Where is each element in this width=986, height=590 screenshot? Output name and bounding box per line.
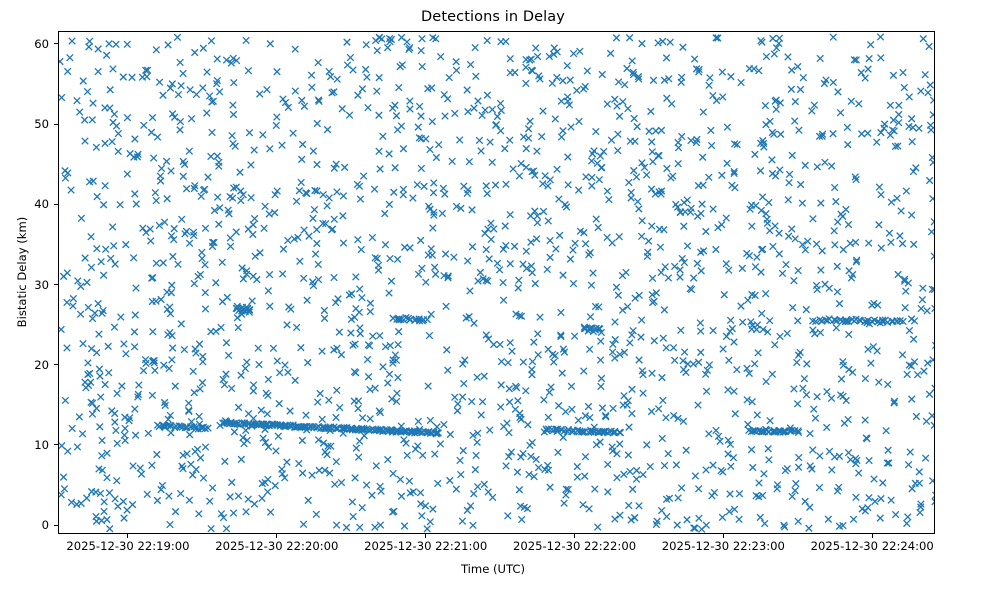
y-tick-mark: [54, 525, 58, 526]
y-tick-mark: [54, 364, 58, 365]
plot-area: [58, 31, 935, 534]
x-tick-mark: [723, 534, 724, 538]
matplotlib-figure: Detections in Delay 2025-12-30 22:19:002…: [0, 0, 986, 590]
y-tick-label: 0: [0, 518, 49, 532]
y-tick-label: 50: [0, 117, 49, 131]
chart-title: Detections in Delay: [0, 9, 986, 25]
x-tick-label: 2025-12-30 22:21:00: [364, 539, 487, 553]
scatter-series-detections: [59, 32, 935, 534]
x-tick-label: 2025-12-30 22:20:00: [215, 539, 338, 553]
y-tick-label: 60: [0, 37, 49, 51]
x-tick-mark: [574, 534, 575, 538]
y-tick-mark: [54, 444, 58, 445]
y-tick-label: 10: [0, 438, 49, 452]
y-tick-mark: [54, 124, 58, 125]
x-tick-mark: [276, 534, 277, 538]
x-tick-label: 2025-12-30 22:24:00: [811, 539, 934, 553]
x-tick-mark: [425, 534, 426, 538]
y-tick-mark: [54, 284, 58, 285]
y-axis-label: Bistatic Delay (km): [15, 162, 29, 382]
x-axis-label: Time (UTC): [0, 562, 986, 576]
y-tick-mark: [54, 43, 58, 44]
y-tick-mark: [54, 204, 58, 205]
x-tick-mark: [872, 534, 873, 538]
x-tick-label: 2025-12-30 22:22:00: [513, 539, 636, 553]
x-tick-label: 2025-12-30 22:19:00: [66, 539, 189, 553]
x-tick-label: 2025-12-30 22:23:00: [662, 539, 785, 553]
x-tick-mark: [127, 534, 128, 538]
